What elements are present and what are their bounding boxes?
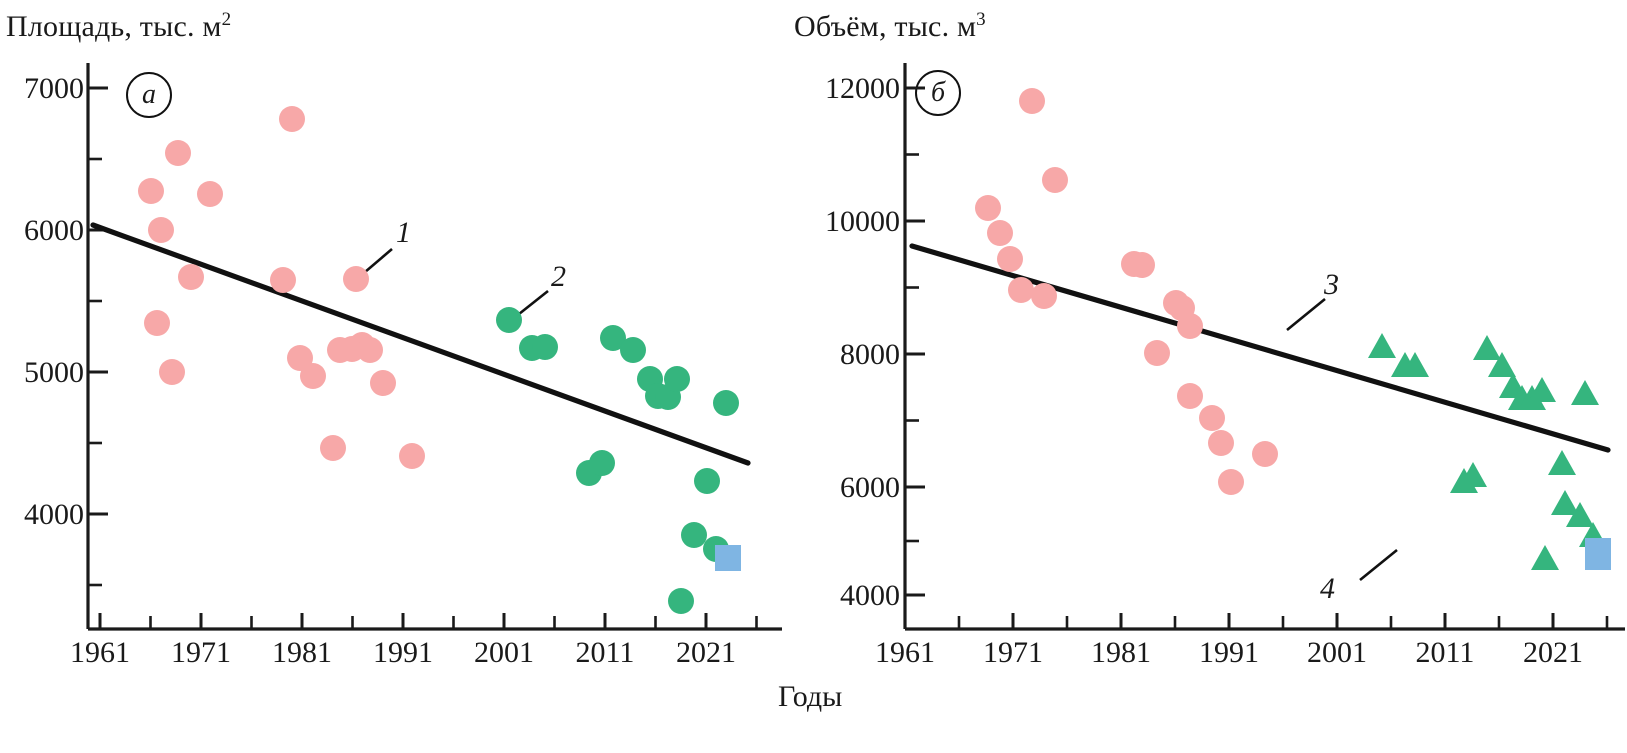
figure-root: Площадь, тыс. м2 7000 6000 5000 4000 196… — [0, 0, 1627, 753]
panel-a: Площадь, тыс. м2 7000 6000 5000 4000 196… — [0, 0, 800, 753]
x-major-ticks-a — [100, 613, 706, 629]
x-axis-title: Годы — [778, 680, 842, 714]
trendline-b — [912, 246, 1608, 450]
panel-a-plot — [0, 0, 800, 753]
x-minor-ticks-b — [959, 616, 1607, 629]
y-minor-ticks-b — [905, 155, 919, 542]
series-pink-a — [138, 106, 425, 469]
trendline-a — [93, 225, 748, 463]
panel-b-plot — [800, 0, 1627, 753]
series-blue-square-a — [715, 545, 741, 571]
callout-3-leader — [1287, 299, 1325, 330]
x-major-ticks-b — [905, 613, 1553, 629]
x-minor-ticks-a — [151, 616, 757, 629]
series-green-a — [496, 307, 739, 614]
series-blue-square-b — [1585, 538, 1611, 570]
series-pink-b — [975, 88, 1278, 495]
callout-4-leader — [1360, 550, 1397, 580]
panel-b: Объём, тыс. м3 12000 10000 8000 6000 400… — [800, 0, 1627, 753]
series-green-b — [1368, 333, 1607, 570]
y-major-ticks-b — [905, 88, 925, 595]
